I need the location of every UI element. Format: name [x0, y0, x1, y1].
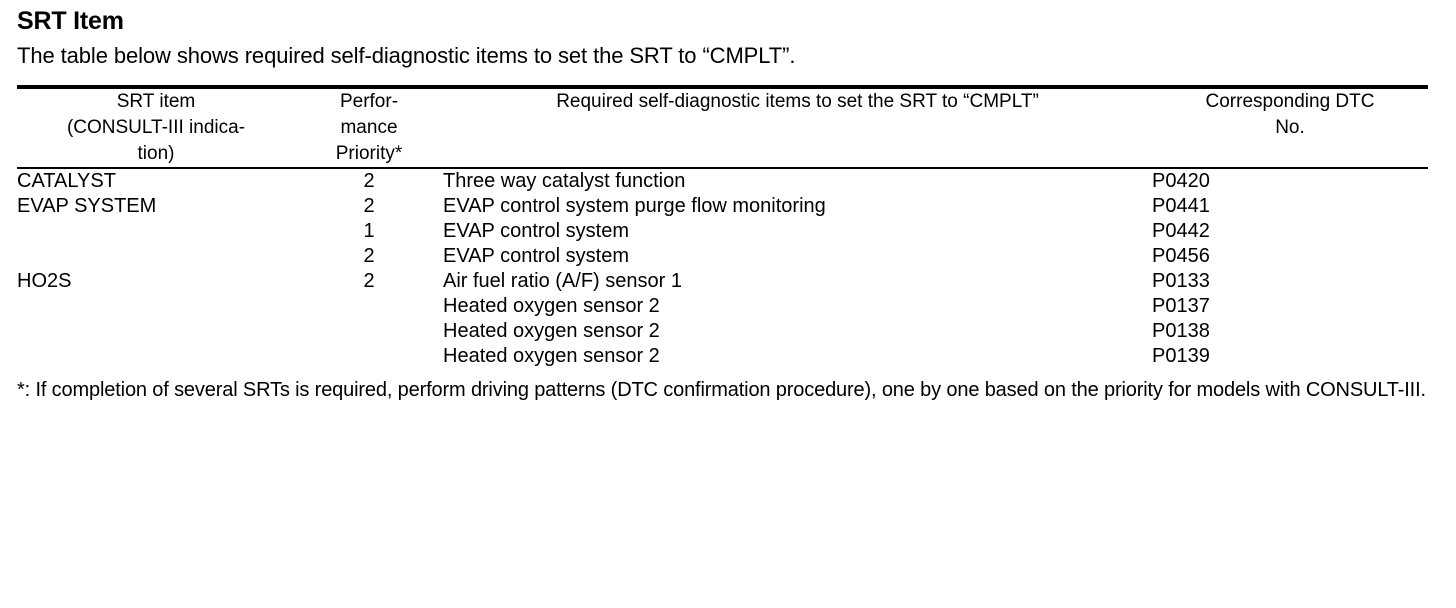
column-header-srt-item: SRT item (CONSULT-III indica- tion)	[17, 87, 295, 168]
corresponding-dtc-value: P0420	[1152, 168, 1428, 194]
performance-priority-value: 2	[295, 244, 443, 269]
performance-priority-value: 2	[295, 194, 443, 219]
performance-priority-value: 2	[295, 168, 443, 194]
corresponding-dtc-value: P0456	[1152, 244, 1428, 269]
column-header-priority-line2: mance	[295, 115, 443, 141]
column-header-priority-line3: Priority*	[295, 141, 443, 167]
corresponding-dtc-value: P0137	[1152, 294, 1428, 319]
table-row: EVAP SYSTEM 2 EVAP control system purge …	[17, 194, 1428, 219]
column-header-dtc-line1: Corresponding DTC	[1152, 89, 1428, 115]
column-header-srt-item-line3: tion)	[17, 141, 295, 167]
table-header-row: SRT item (CONSULT-III indica- tion) Perf…	[17, 87, 1428, 168]
column-header-srt-item-line1: SRT item	[17, 89, 295, 115]
corresponding-dtc-value: P0133	[1152, 269, 1428, 294]
column-header-srt-item-line2: (CONSULT-III indica-	[17, 115, 295, 141]
required-item-description: EVAP control system	[443, 244, 1152, 269]
performance-priority-value: 1	[295, 219, 443, 244]
column-header-dtc-line2: No.	[1152, 115, 1428, 141]
table-row: CATALYST 2 Three way catalyst function P…	[17, 168, 1428, 194]
corresponding-dtc-value: P0442	[1152, 219, 1428, 244]
intro-paragraph: The table below shows required self-diag…	[17, 36, 1439, 71]
table-row: HO2S 2 Air fuel ratio (A/F) sensor 1 P01…	[17, 269, 1428, 294]
required-item-description: EVAP control system	[443, 219, 1152, 244]
corresponding-dtc-value: P0139	[1152, 344, 1428, 369]
required-item-description: EVAP control system purge flow monitorin…	[443, 194, 1152, 219]
column-header-required-items: Required self-diagnostic items to set th…	[443, 87, 1152, 168]
table-body: CATALYST 2 Three way catalyst function P…	[17, 168, 1428, 369]
column-header-priority-line1: Perfor-	[295, 89, 443, 115]
document-page: SRT Item The table below shows required …	[0, 0, 1456, 608]
required-item-description: Heated oxygen sensor 2	[443, 344, 1152, 369]
required-item-description: Three way catalyst function	[443, 168, 1152, 194]
required-item-description: Heated oxygen sensor 2	[443, 294, 1152, 319]
column-header-performance-priority: Perfor- mance Priority*	[295, 87, 443, 168]
srt-item-name: HO2S	[17, 269, 295, 369]
required-item-description: Air fuel ratio (A/F) sensor 1	[443, 269, 1152, 294]
srt-item-table: SRT item (CONSULT-III indica- tion) Perf…	[17, 85, 1428, 369]
corresponding-dtc-value: P0138	[1152, 319, 1428, 344]
srt-item-name: EVAP SYSTEM	[17, 194, 295, 269]
column-header-corresponding-dtc: Corresponding DTC No.	[1152, 87, 1428, 168]
page-title: SRT Item	[17, 0, 1439, 36]
performance-priority-value: 2	[295, 269, 443, 369]
required-item-description: Heated oxygen sensor 2	[443, 319, 1152, 344]
footnote-text: *: If completion of several SRTs is requ…	[17, 369, 1431, 405]
table-header: SRT item (CONSULT-III indica- tion) Perf…	[17, 87, 1428, 168]
corresponding-dtc-value: P0441	[1152, 194, 1428, 219]
srt-item-name: CATALYST	[17, 168, 295, 194]
